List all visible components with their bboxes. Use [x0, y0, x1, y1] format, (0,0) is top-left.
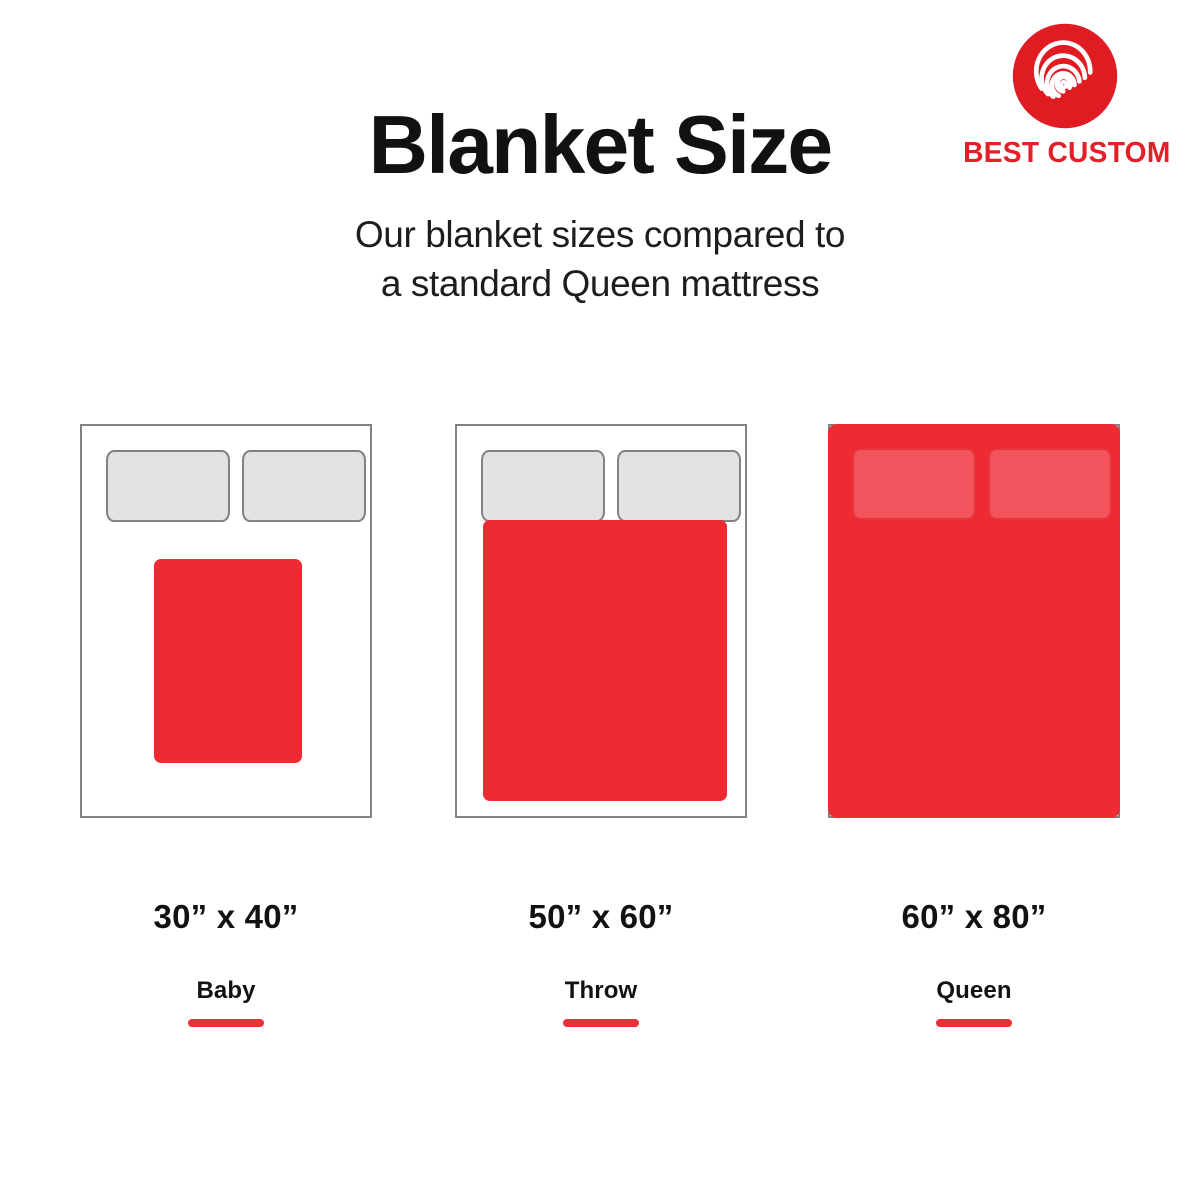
blanket-throw — [483, 520, 727, 801]
accent-underline-throw — [563, 1019, 639, 1027]
size-name-baby: Baby — [80, 979, 372, 1003]
bed-comparison-diagrams — [0, 424, 1200, 824]
accent-underline-baby — [188, 1019, 264, 1027]
pillow-left — [481, 450, 605, 522]
bed-diagram-queen — [828, 424, 1120, 818]
subtitle-line-1: Our blanket sizes compared to — [355, 214, 845, 255]
caption-row: 30” x 40” Baby 50” x 60” Throw 60” x 80”… — [0, 900, 1200, 1060]
pillow-right-under-blanket — [988, 448, 1112, 520]
dimension-label-throw: 50” x 60” — [455, 900, 747, 933]
subtitle-line-2: a standard Queen mattress — [381, 263, 819, 304]
bed-diagram-throw — [455, 424, 747, 818]
size-name-throw: Throw — [455, 979, 747, 1003]
caption-queen: 60” x 80” Queen — [828, 900, 1120, 1027]
size-name-queen: Queen — [828, 979, 1120, 1003]
blanket-baby — [154, 559, 302, 763]
bed-diagram-baby — [80, 424, 372, 818]
caption-throw: 50” x 60” Throw — [455, 900, 747, 1027]
headline-block: Blanket Size Our blanket sizes compared … — [0, 104, 1200, 309]
page-title: Blanket Size — [6, 104, 1194, 185]
caption-baby: 30” x 40” Baby — [80, 900, 372, 1027]
page-subtitle: Our blanket sizes compared to a standard… — [0, 211, 1200, 309]
accent-underline-queen — [936, 1019, 1012, 1027]
pillow-right — [242, 450, 366, 522]
pillow-left — [106, 450, 230, 522]
dimension-label-baby: 30” x 40” — [80, 900, 372, 933]
blanket-queen — [828, 424, 1120, 818]
dimension-label-queen: 60” x 80” — [828, 900, 1120, 933]
pillow-left-under-blanket — [852, 448, 976, 520]
pillow-right — [617, 450, 741, 522]
